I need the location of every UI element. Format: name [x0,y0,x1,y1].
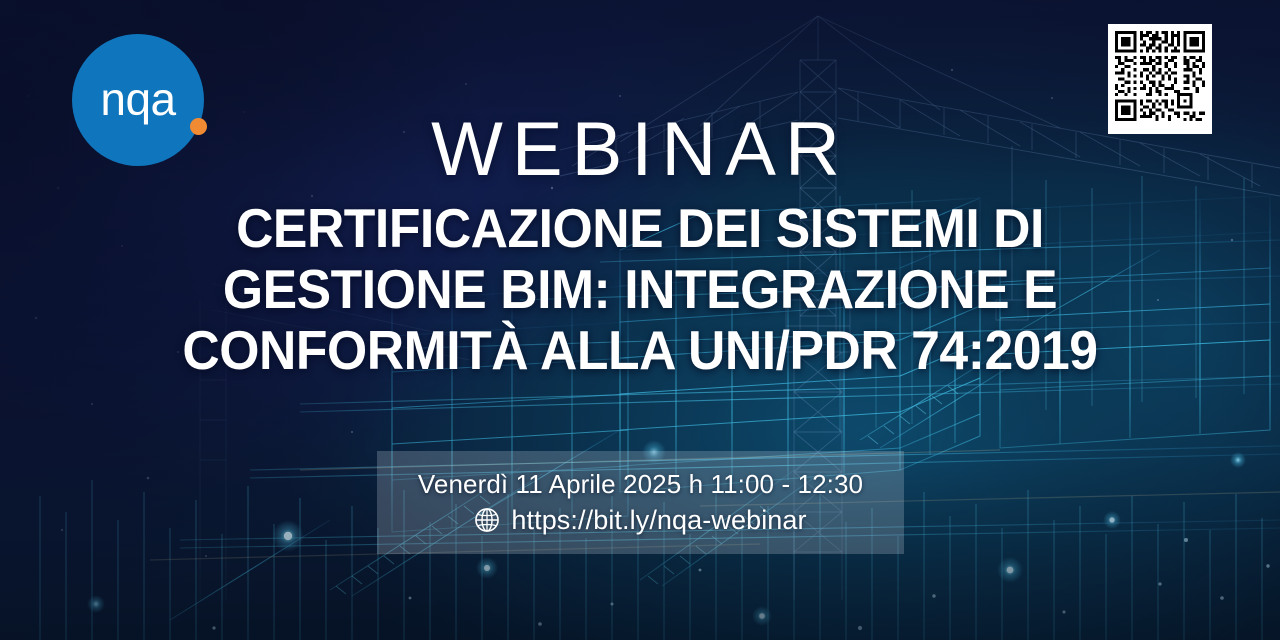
webinar-title: CERTIFICAZIONE DEI SISTEMI DI GESTIONE B… [57,198,1223,381]
title-line-2: GESTIONE BIM: INTEGRAZIONE E [57,259,1223,320]
headline-block: WEBINAR CERTIFICAZIONE DEI SISTEMI DI GE… [0,112,1280,381]
globe-icon [474,507,500,533]
title-line-1: CERTIFICAZIONE DEI SISTEMI DI [57,198,1223,259]
event-url-row[interactable]: https://bit.ly/nqa-webinar [474,504,806,536]
webinar-kicker: WEBINAR [20,112,1260,188]
event-url[interactable]: https://bit.ly/nqa-webinar [511,504,806,536]
webinar-banner: nqa [0,0,1280,640]
title-line-3: CONFORMITÀ ALLA UNI/PDR 74:2019 [57,320,1223,381]
qr-code-icon [1115,31,1205,121]
event-info-panel: Venerdì 11 Aprile 2025 h 11:00 - 12:30 h… [377,451,904,554]
event-datetime: Venerdì 11 Aprile 2025 h 11:00 - 12:30 [418,469,863,500]
